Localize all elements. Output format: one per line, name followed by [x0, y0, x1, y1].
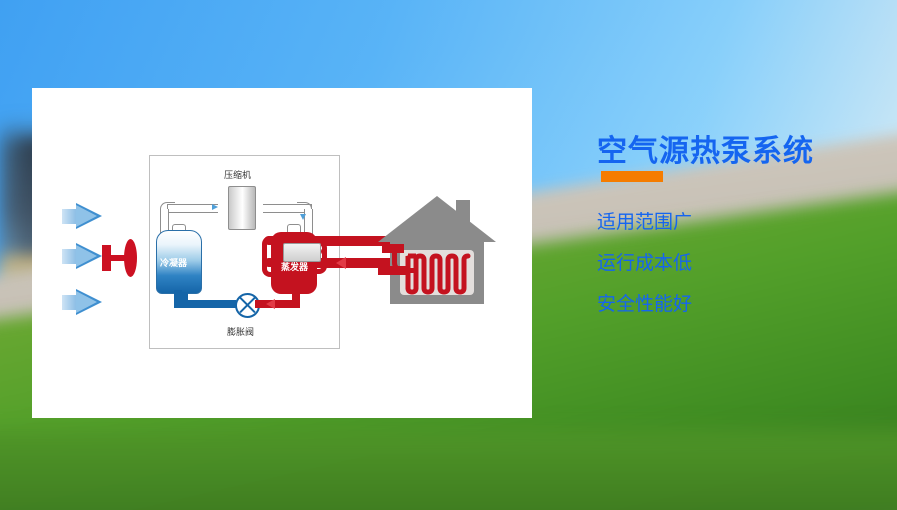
- feature-bullet: 运行成本低: [597, 248, 692, 275]
- airflow-arrow-icon: [62, 289, 102, 316]
- house-illustration: [378, 196, 496, 304]
- arrow-head-highlight: [76, 205, 97, 227]
- hot-flow-arrow-icon: [266, 299, 275, 309]
- arrow-head-highlight: [76, 245, 97, 267]
- arrow-head-highlight: [76, 291, 97, 313]
- liquid-line-horizontal: [174, 300, 236, 308]
- flow-arrow-icon: [212, 204, 218, 210]
- evaporator-label: 蒸发器: [281, 260, 308, 273]
- title-divider: [601, 171, 663, 182]
- feature-bullet: 安全性能好: [597, 289, 692, 316]
- condenser-label: 冷凝器: [160, 256, 187, 269]
- airflow-arrow-icon: [62, 243, 102, 270]
- grass-foreground: [0, 430, 897, 510]
- return-flow-arrow-icon: [336, 257, 346, 269]
- page-title: 空气源热泵系统: [597, 126, 814, 170]
- expansion-valve-label: 膨胀阀: [227, 325, 254, 338]
- fan-blade: [124, 239, 137, 277]
- compressor-unit: [228, 186, 256, 230]
- feature-bullet: 适用范围广: [597, 207, 692, 234]
- flow-arrow-icon: [300, 214, 306, 220]
- compressor-label: 压缩机: [224, 168, 251, 181]
- airflow-arrow-icon: [62, 203, 102, 230]
- fan-icon: [102, 239, 140, 277]
- slide-canvas: 压缩机 冷凝器 膨胀阀 蒸发器 空气源热泵系统 适用范围广 运行成本: [0, 0, 897, 510]
- house-return-outlet: [378, 266, 408, 275]
